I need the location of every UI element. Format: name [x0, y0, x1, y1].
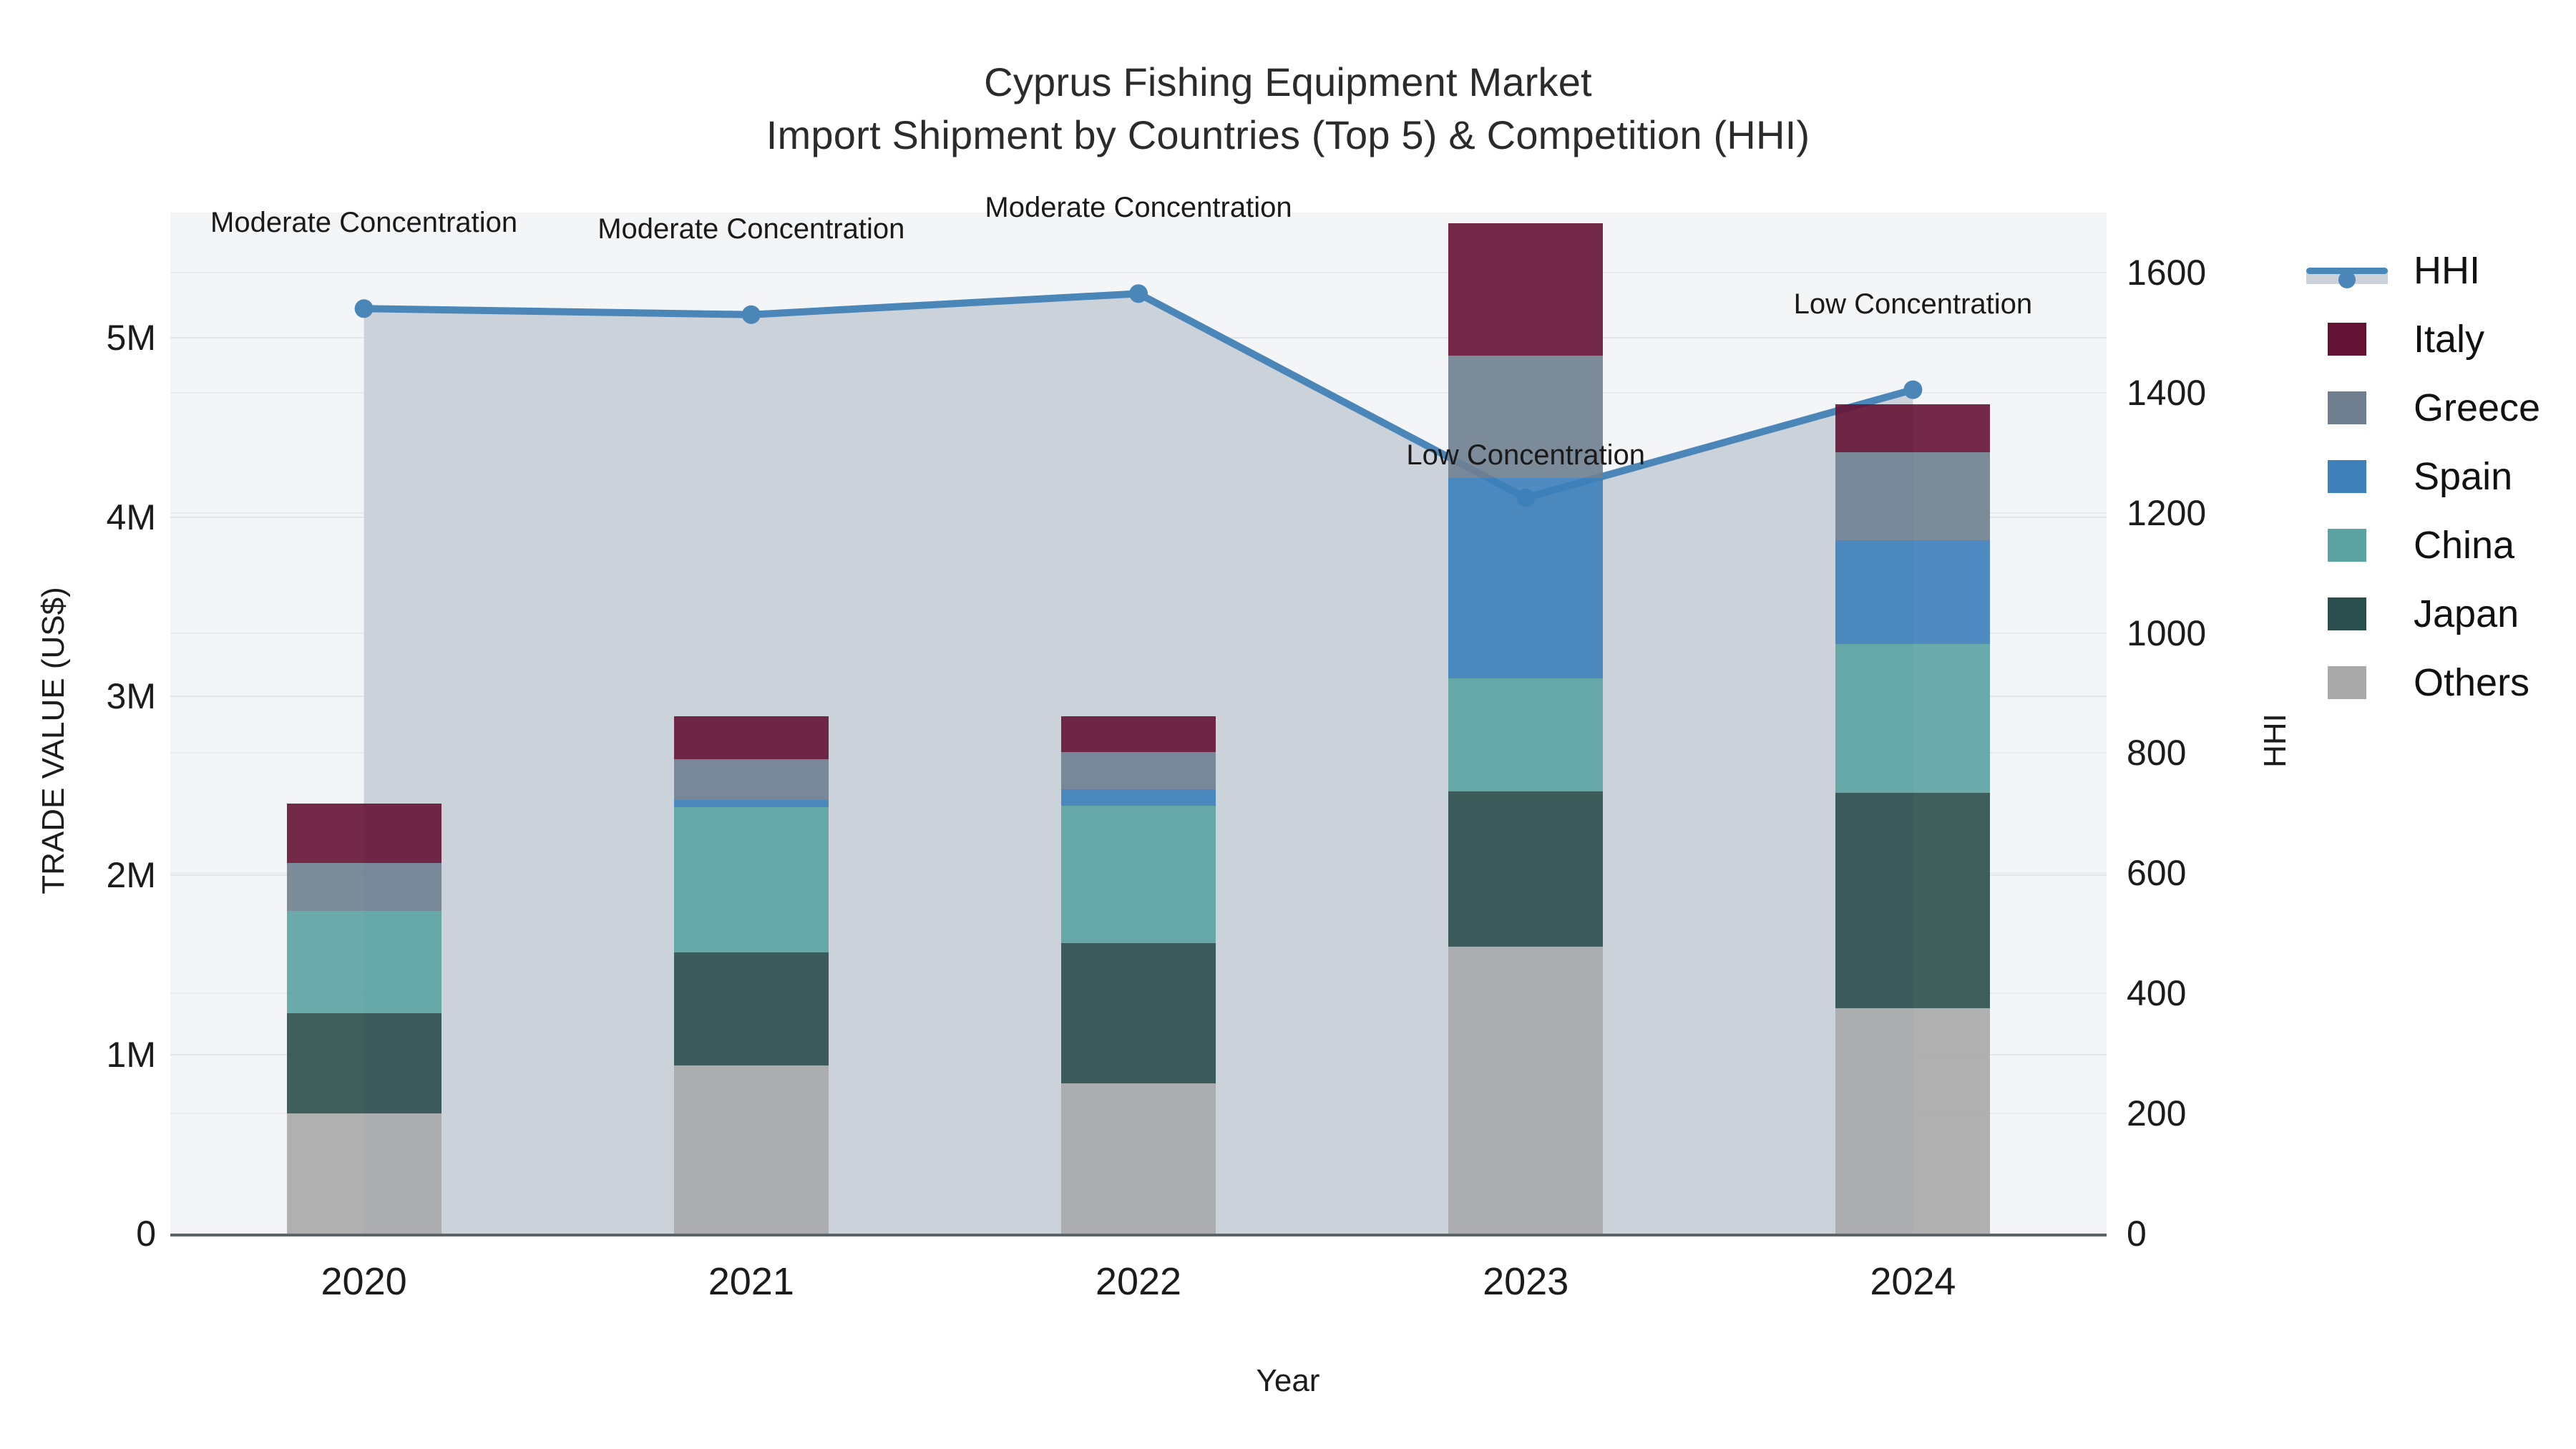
chart-title-line2: Import Shipment by Countries (Top 5) & C…	[0, 109, 2576, 162]
x-tick-2023: 2023	[1382, 1259, 1669, 1304]
bar-segment-china[interactable]	[287, 911, 441, 1013]
legend-label: Greece	[2414, 386, 2540, 430]
legend-swatch-icon	[2301, 391, 2394, 424]
legend-item-others[interactable]: Others	[2301, 648, 2540, 717]
bar-segment-spain[interactable]	[1448, 478, 1603, 678]
legend-label: Others	[2414, 660, 2529, 705]
bar-segment-others[interactable]	[1061, 1083, 1216, 1234]
bar-segment-china[interactable]	[674, 807, 829, 952]
bar-segment-others[interactable]	[287, 1113, 441, 1234]
y-tick-left: 0	[13, 1213, 156, 1254]
y-tick-left: 5M	[13, 317, 156, 358]
bar-segment-italy[interactable]	[1448, 223, 1603, 356]
chart-root: Cyprus Fishing Equipment Market Import S…	[0, 0, 2576, 1449]
legend-label: China	[2414, 523, 2514, 567]
annotation-label: Low Concentration	[1794, 288, 2033, 321]
legend-line-icon	[2301, 254, 2394, 287]
annotation-label: Moderate Concentration	[597, 213, 904, 245]
x-axis-title: Year	[0, 1363, 2576, 1399]
bar-layer	[170, 213, 2107, 1234]
x-tick-2020: 2020	[221, 1259, 507, 1304]
x-tick-2022: 2022	[995, 1259, 1282, 1304]
bar-segment-italy[interactable]	[1061, 716, 1216, 752]
legend-item-greece[interactable]: Greece	[2301, 374, 2540, 442]
y-tick-left: 4M	[13, 497, 156, 538]
legend-label: Spain	[2414, 454, 2512, 499]
y-tick-right: 1200	[2127, 492, 2313, 534]
legend-color-swatch	[2328, 529, 2366, 562]
legend-color-swatch	[2328, 666, 2366, 699]
bar-segment-china[interactable]	[1061, 806, 1216, 944]
stacked-bar[interactable]	[1061, 716, 1216, 1234]
y-tick-right: 400	[2127, 972, 2313, 1014]
bar-segment-greece[interactable]	[1835, 452, 1990, 540]
legend-label: Japan	[2414, 592, 2519, 636]
legend-swatch-icon	[2301, 597, 2394, 630]
y-tick-left: 1M	[13, 1034, 156, 1075]
y-tick-right: 0	[2127, 1213, 2313, 1254]
annotation-label: Moderate Concentration	[985, 192, 1292, 224]
y-tick-right: 1600	[2127, 252, 2313, 293]
bar-segment-china[interactable]	[1448, 678, 1603, 791]
bar-segment-greece[interactable]	[674, 759, 829, 801]
bar-segment-others[interactable]	[1448, 947, 1603, 1234]
bar-segment-others[interactable]	[674, 1065, 829, 1234]
stacked-bar[interactable]	[287, 804, 441, 1234]
bar-segment-others[interactable]	[1835, 1008, 1990, 1234]
stacked-bar[interactable]	[674, 716, 829, 1234]
bar-segment-spain[interactable]	[674, 800, 829, 807]
bar-segment-italy[interactable]	[287, 804, 441, 863]
legend-swatch-icon	[2301, 323, 2394, 356]
bar-segment-japan[interactable]	[674, 952, 829, 1065]
y-tick-right: 200	[2127, 1093, 2313, 1134]
bar-segment-italy[interactable]	[1835, 404, 1990, 453]
legend-item-china[interactable]: China	[2301, 511, 2540, 580]
bar-segment-spain[interactable]	[1061, 789, 1216, 806]
bar-segment-japan[interactable]	[287, 1013, 441, 1113]
legend-item-italy[interactable]: Italy	[2301, 305, 2540, 374]
y-tick-left: 3M	[13, 675, 156, 717]
legend-marker-dot	[2338, 271, 2356, 288]
legend-item-spain[interactable]: Spain	[2301, 442, 2540, 511]
bar-segment-japan[interactable]	[1835, 793, 1990, 1008]
bar-segment-japan[interactable]	[1061, 943, 1216, 1083]
legend-color-swatch	[2328, 460, 2366, 493]
chart-title: Cyprus Fishing Equipment Market Import S…	[0, 56, 2576, 162]
bar-segment-greece[interactable]	[287, 863, 441, 912]
bar-segment-greece[interactable]	[1061, 752, 1216, 790]
y-axis-right-title: HHI	[2258, 612, 2293, 869]
x-tick-2021: 2021	[608, 1259, 894, 1304]
y-axis-left-title: TRADE VALUE (US$)	[36, 512, 72, 970]
bar-segment-china[interactable]	[1835, 644, 1990, 793]
x-tick-2024: 2024	[1770, 1259, 2056, 1304]
stacked-bar[interactable]	[1448, 223, 1603, 1234]
legend-item-japan[interactable]: Japan	[2301, 580, 2540, 648]
annotation-label: Low Concentration	[1406, 439, 1645, 472]
y-tick-right: 1400	[2127, 372, 2313, 414]
legend-color-swatch	[2328, 391, 2366, 424]
legend-label: HHI	[2414, 248, 2480, 293]
legend: HHIItalyGreeceSpainChinaJapanOthers	[2301, 236, 2540, 717]
legend-swatch-icon	[2301, 529, 2394, 562]
legend-color-swatch	[2328, 323, 2366, 356]
bar-segment-spain[interactable]	[1835, 540, 1990, 644]
bar-segment-japan[interactable]	[1448, 791, 1603, 947]
annotation-label: Moderate Concentration	[210, 207, 517, 239]
stacked-bar[interactable]	[1835, 404, 1990, 1234]
y-tick-left: 2M	[13, 854, 156, 896]
chart-title-line1: Cyprus Fishing Equipment Market	[984, 59, 1592, 104]
legend-item-hhi[interactable]: HHI	[2301, 236, 2540, 305]
legend-swatch-icon	[2301, 460, 2394, 493]
legend-label: Italy	[2414, 317, 2484, 361]
legend-swatch-icon	[2301, 666, 2394, 699]
bar-segment-italy[interactable]	[674, 716, 829, 759]
legend-color-swatch	[2328, 597, 2366, 630]
